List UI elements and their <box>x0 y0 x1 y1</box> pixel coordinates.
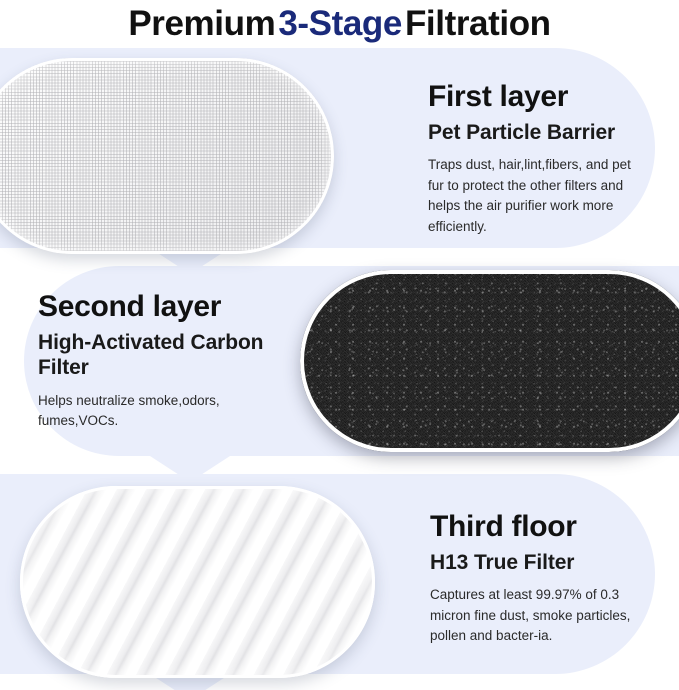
premium-filtration-infographic: Premium 3-Stage Filtration First layer P… <box>0 0 679 690</box>
title-tail: Filtration <box>405 4 551 44</box>
stage-2-body: Helps neutralize smoke,odors, fumes,VOCs… <box>38 391 268 432</box>
stage-3-heading: Third floor <box>430 510 652 544</box>
stage-second-layer: Second layer High-Activated Carbon Filte… <box>0 266 679 464</box>
stage-1-body: Traps dust, hair,lint,fibers, and pet fu… <box>428 155 646 237</box>
hepa-pleated-filter-image <box>20 486 375 678</box>
stage-2-subheading: High-Activated Carbon Filter <box>38 330 268 380</box>
stage-2-copy: Second layer High-Activated Carbon Filte… <box>38 290 268 432</box>
stage-third-layer: Third floor H13 True Filter Captures at … <box>0 474 679 690</box>
stage-1-copy: First layer Pet Particle Barrier Traps d… <box>428 80 646 237</box>
stage-1-heading: First layer <box>428 80 646 114</box>
stage-3-body: Captures at least 99.97% of 0.3 micron f… <box>430 585 652 647</box>
stage-2-connector-arrow-icon <box>150 456 230 482</box>
stage-1-subheading: Pet Particle Barrier <box>428 120 646 145</box>
title-lead: Premium <box>128 4 275 44</box>
stage-3-copy: Third floor H13 True Filter Captures at … <box>430 510 652 647</box>
activated-carbon-filter-image <box>300 270 679 452</box>
page-title: Premium 3-Stage Filtration <box>0 0 679 48</box>
stage-first-layer: First layer Pet Particle Barrier Traps d… <box>0 48 679 256</box>
stage-2-heading: Second layer <box>38 290 268 324</box>
pet-particle-prefilter-image <box>0 58 334 254</box>
title-accent: 3-Stage <box>275 4 405 44</box>
mesh-texture <box>0 58 334 254</box>
pleat-texture <box>20 486 375 678</box>
carbon-grain-texture <box>304 274 679 448</box>
stage-3-subheading: H13 True Filter <box>430 550 652 575</box>
